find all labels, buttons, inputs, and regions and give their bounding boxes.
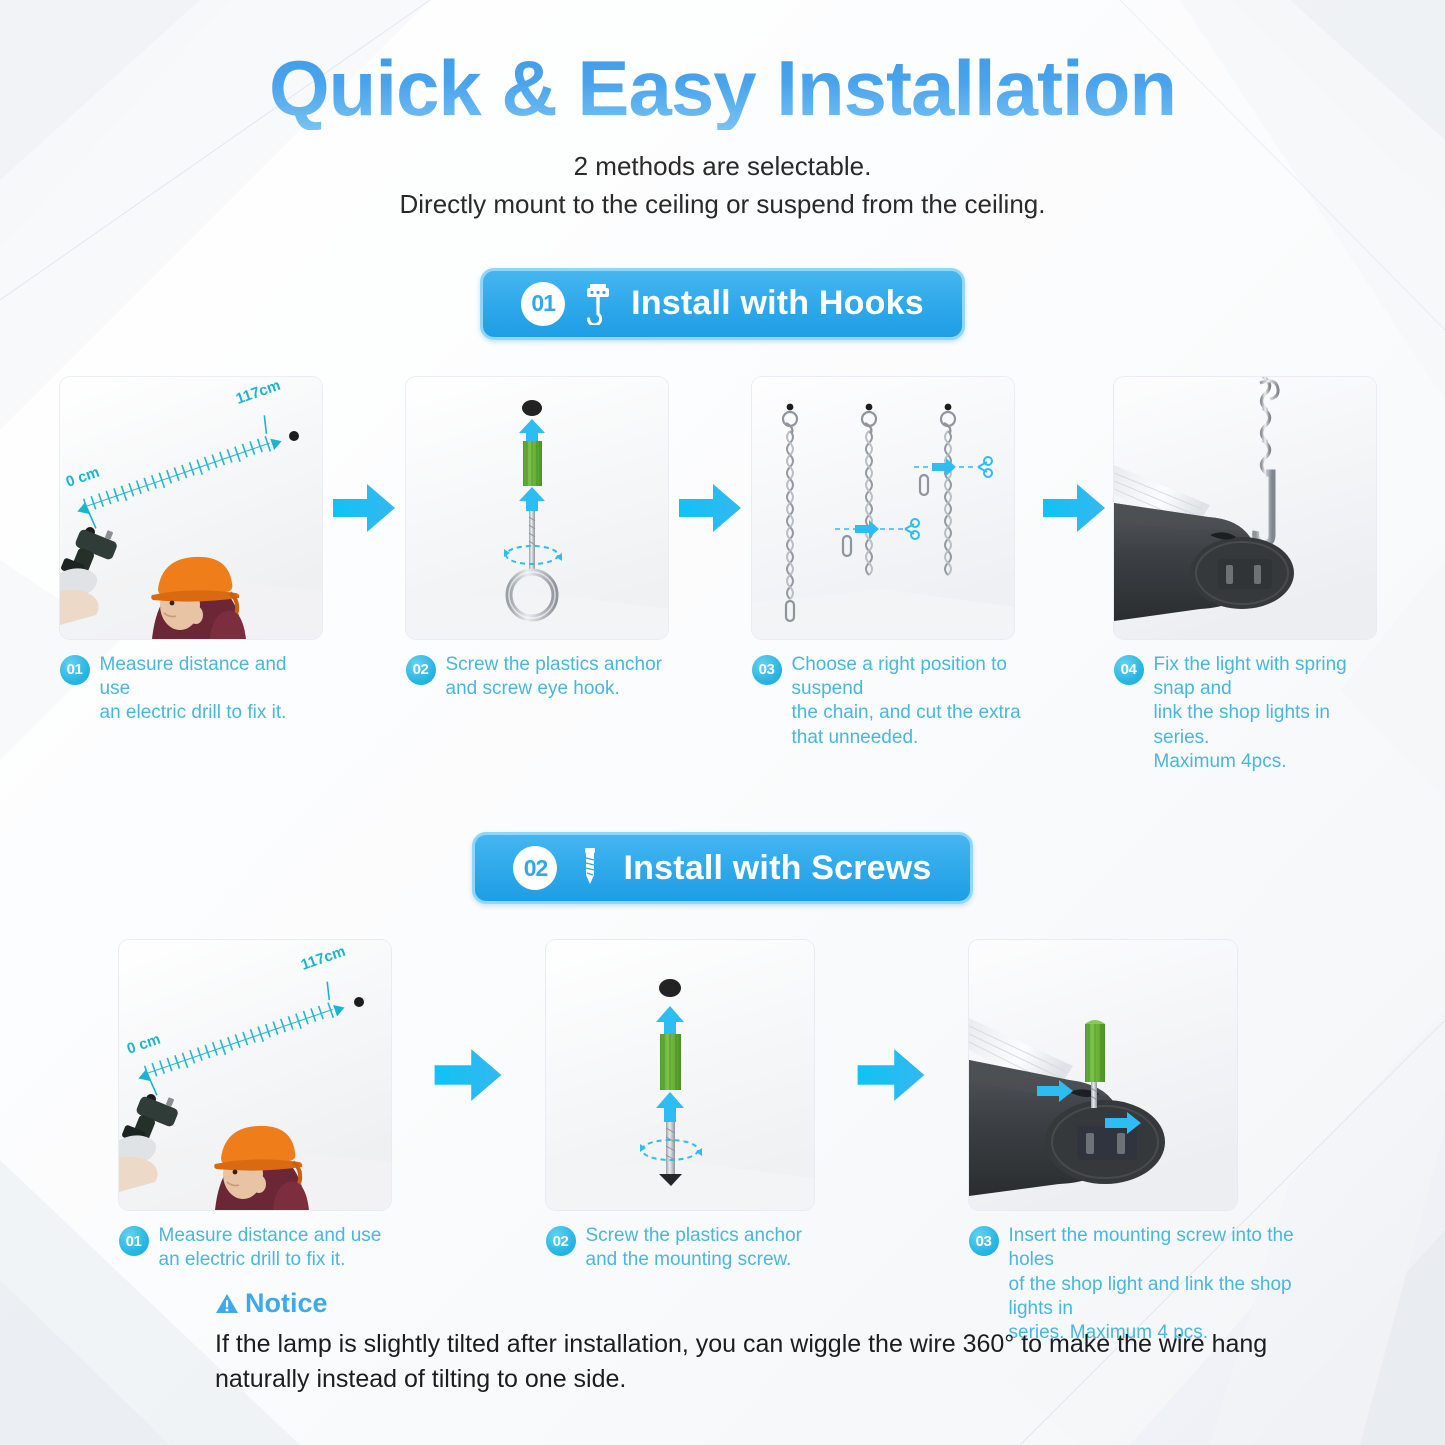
page-header: Quick & Easy Installation 2 methods are … (0, 0, 1445, 224)
notice-block: Notice If the lamp is slightly tilted af… (215, 1288, 1275, 1397)
step-image-anchor-and-eye-hook (406, 377, 668, 639)
warning-triangle-icon (215, 1292, 239, 1316)
subtitle-line-2: Directly mount to the ceiling or suspend… (0, 186, 1445, 224)
step-card: 02 Screw the plastics anchor and the mou… (546, 940, 814, 1273)
flow-arrow-icon (1034, 377, 1114, 639)
step-image-light-with-mounting-screw (969, 940, 1237, 1210)
step-image-chains-with-cut-marks (752, 377, 1014, 639)
notice-body: If the lamp is slightly tilted after ins… (215, 1327, 1275, 1397)
screw-icon (575, 847, 605, 889)
caption-text: Screw the plastics anchor and the mounti… (586, 1224, 803, 1273)
page-subtitle: 2 methods are selectable. Directly mount… (0, 148, 1445, 223)
step-image-anchor-and-mounting-screw (546, 940, 814, 1210)
caption-text: Fix the light with spring snap and link … (1154, 653, 1386, 775)
notice-title: Notice (245, 1288, 328, 1319)
step-card: 04 Fix the light with spring snap and li… (1114, 377, 1386, 775)
flow-arrow-icon (391, 940, 546, 1210)
caption-number-badge: 01 (119, 1226, 149, 1256)
notice-header: Notice (215, 1288, 1275, 1319)
step-caption: 02 Screw the plastics anchor and the mou… (546, 1224, 814, 1273)
section-banner-install-with-hooks[interactable]: 01 Install with Hooks (480, 268, 965, 340)
section-2-steps: 0 cm 117cm (0, 940, 1445, 1346)
caption-number-badge: 02 (406, 655, 436, 685)
caption-number-badge: 04 (1114, 655, 1144, 685)
step-caption: 03 Choose a right position to suspend th… (752, 653, 1034, 750)
flow-arrow-icon (668, 377, 752, 639)
step-card: 03 Insert the mounting screw into the ho… (969, 940, 1327, 1346)
step-image-light-with-spring-snap (1114, 377, 1376, 639)
section-1-steps: 0 cm 117cm (0, 377, 1445, 775)
hoist-hook-icon (583, 283, 613, 325)
section-banner-install-with-screws[interactable]: 02 Install with Screws (472, 832, 972, 904)
section-2-banner-wrap: 02 Install with Screws (0, 832, 1445, 904)
caption-number-badge: 03 (969, 1226, 999, 1256)
caption-number-badge: 03 (752, 655, 782, 685)
caption-text: Choose a right position to suspend the c… (792, 653, 1034, 750)
step-caption: 01 Measure distance and use an electric … (60, 653, 322, 726)
caption-number-badge: 02 (546, 1226, 576, 1256)
step-caption: 04 Fix the light with spring snap and li… (1114, 653, 1386, 775)
flow-arrow-icon (814, 940, 969, 1210)
step-card: 03 Choose a right position to suspend th… (752, 377, 1034, 750)
subtitle-line-1: 2 methods are selectable. (0, 148, 1445, 186)
caption-text: Measure distance and use an electric dri… (159, 1224, 382, 1273)
banner-number-badge: 02 (513, 846, 557, 890)
caption-text: Screw the plastics anchor and screw eye … (446, 653, 663, 702)
step-image-worker-drilling: 0 cm 117cm (60, 377, 322, 639)
step-card: 02 Screw the plastics anchor and screw e… (406, 377, 668, 702)
caption-number-badge: 01 (60, 655, 90, 685)
banner-label: Install with Hooks (631, 284, 924, 323)
step-caption: 01 Measure distance and use an electric … (119, 1224, 391, 1273)
step-caption: 02 Screw the plastics anchor and screw e… (406, 653, 668, 702)
step-card: 0 cm 117cm (119, 940, 391, 1273)
banner-number-badge: 01 (521, 282, 565, 326)
banner-label: Install with Screws (623, 849, 931, 888)
flow-arrow-icon (322, 377, 406, 639)
step-image-worker-drilling: 0 cm 117cm (119, 940, 391, 1210)
caption-text: Measure distance and use an electric dri… (100, 653, 322, 726)
section-1-banner-wrap: 01 Install with Hooks (0, 268, 1445, 340)
step-card: 0 cm 117cm (60, 377, 322, 726)
page-title: Quick & Easy Installation (0, 46, 1445, 130)
